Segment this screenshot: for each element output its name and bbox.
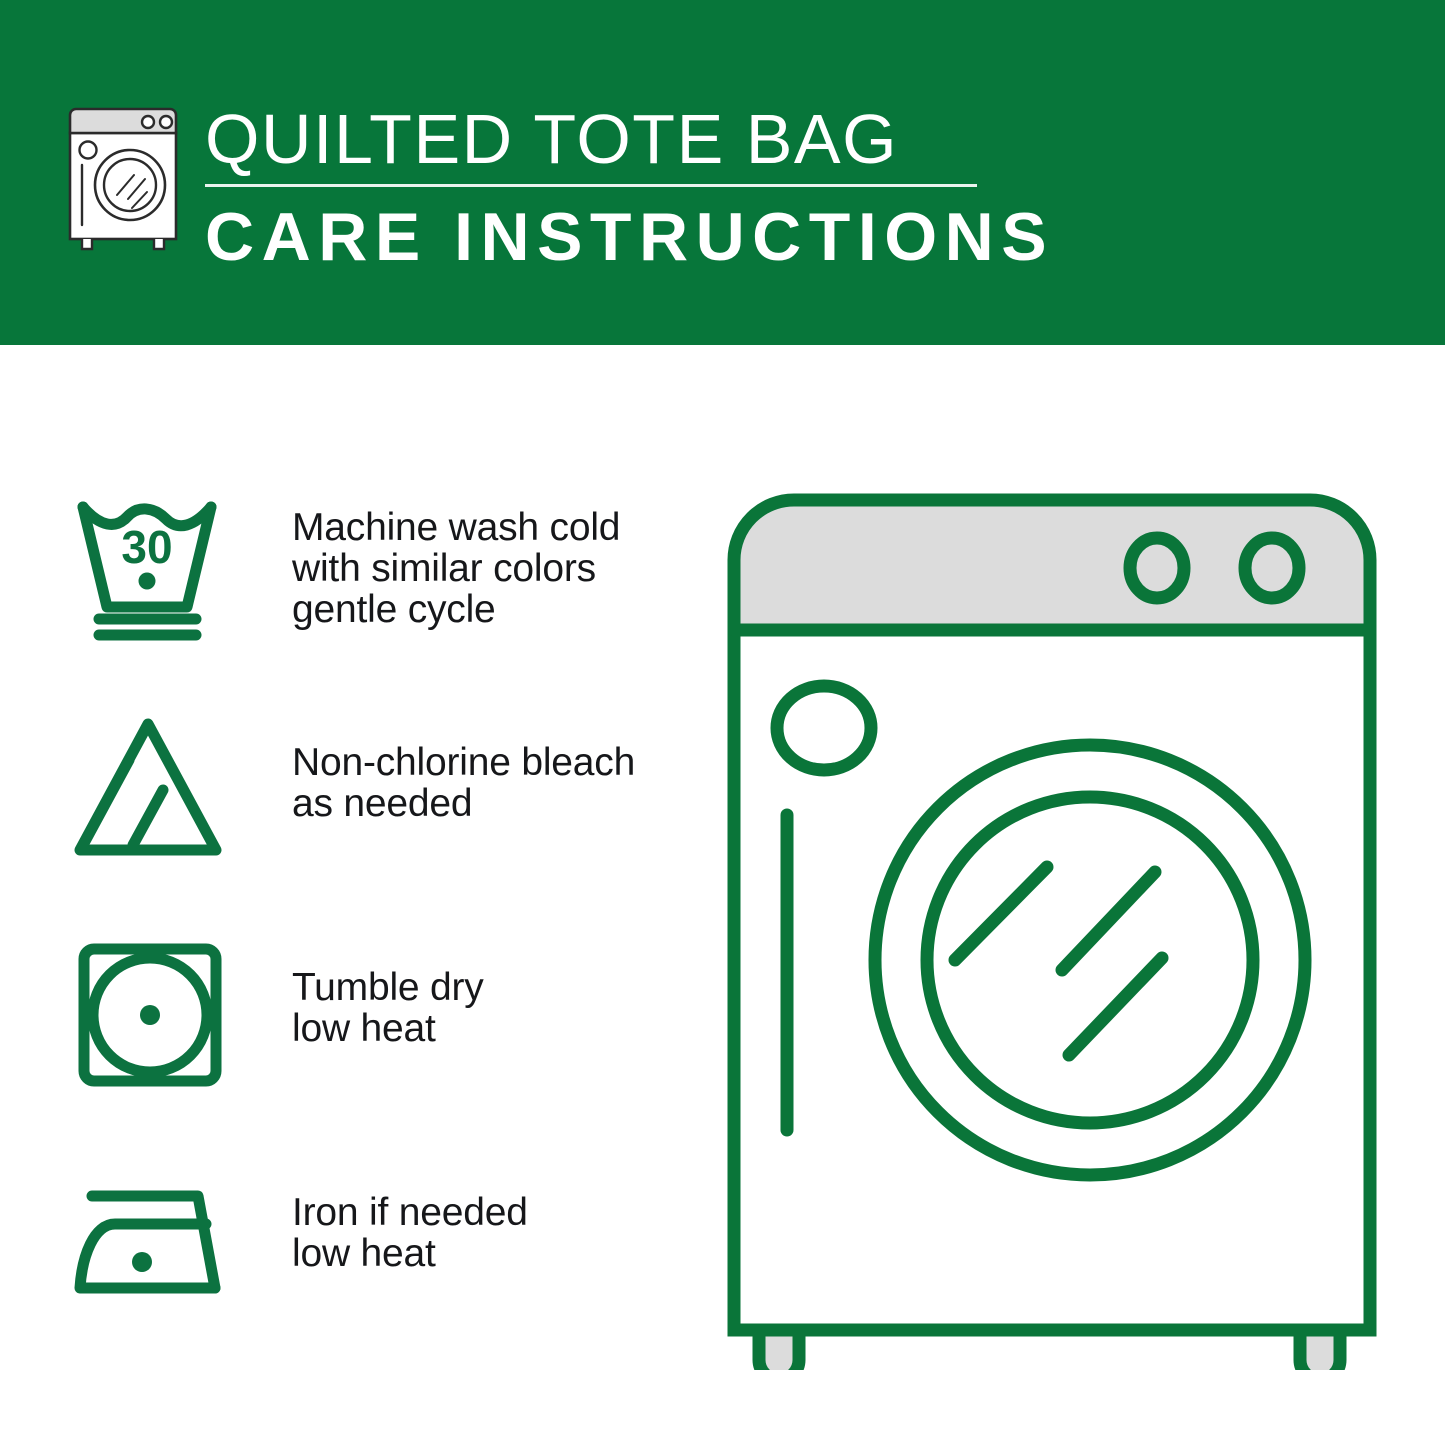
care-row-bleach: Non-chlorine bleach as needed xyxy=(70,710,690,935)
machine-door-inner-ring xyxy=(927,797,1253,1123)
care-text-tumble-dry: Tumble dry low heat xyxy=(292,967,690,1049)
care-row-machine-wash: 30 Machine wash cold with similar colors… xyxy=(70,485,690,710)
machine-knob-right xyxy=(1245,538,1299,598)
iron-low-heat-icon xyxy=(70,1160,230,1320)
title-divider xyxy=(205,184,977,187)
iron-dot xyxy=(132,1252,152,1272)
care-row-iron: Iron if needed low heat xyxy=(70,1160,690,1385)
care-symbol-list: 30 Machine wash cold with similar colors… xyxy=(70,485,690,1385)
machine-wash-30-gentle-icon: 30 xyxy=(70,485,230,645)
tumble-dry-low-icon xyxy=(70,935,230,1095)
header-banner: QUILTED TOTE BAG CARE INSTRUCTIONS xyxy=(0,0,1445,345)
header-text-block: QUILTED TOTE BAG CARE INSTRUCTIONS xyxy=(205,100,995,275)
machine-knob-left xyxy=(1130,538,1184,598)
care-row-tumble-dry: Tumble dry low heat xyxy=(70,935,690,1160)
tumble-dry-dot xyxy=(140,1005,160,1025)
care-text-machine-wash: Machine wash cold with similar colors ge… xyxy=(292,507,690,630)
page-title: QUILTED TOTE BAG xyxy=(205,100,995,178)
care-text-bleach: Non-chlorine bleach as needed xyxy=(292,742,690,824)
washing-machine-illustration xyxy=(712,480,1392,1370)
wash-temperature-label: 30 xyxy=(121,521,172,573)
wash-dot xyxy=(139,573,156,590)
non-chlorine-bleach-icon xyxy=(70,710,230,870)
section-title: CARE INSTRUCTIONS xyxy=(205,199,995,275)
machine-dispenser-port xyxy=(777,686,871,770)
care-instructions-infographic: QUILTED TOTE BAG CARE INSTRUCTIONS 30 Ma xyxy=(0,0,1445,1445)
care-text-iron: Iron if needed low heat xyxy=(292,1192,690,1274)
washing-machine-icon xyxy=(62,105,184,255)
